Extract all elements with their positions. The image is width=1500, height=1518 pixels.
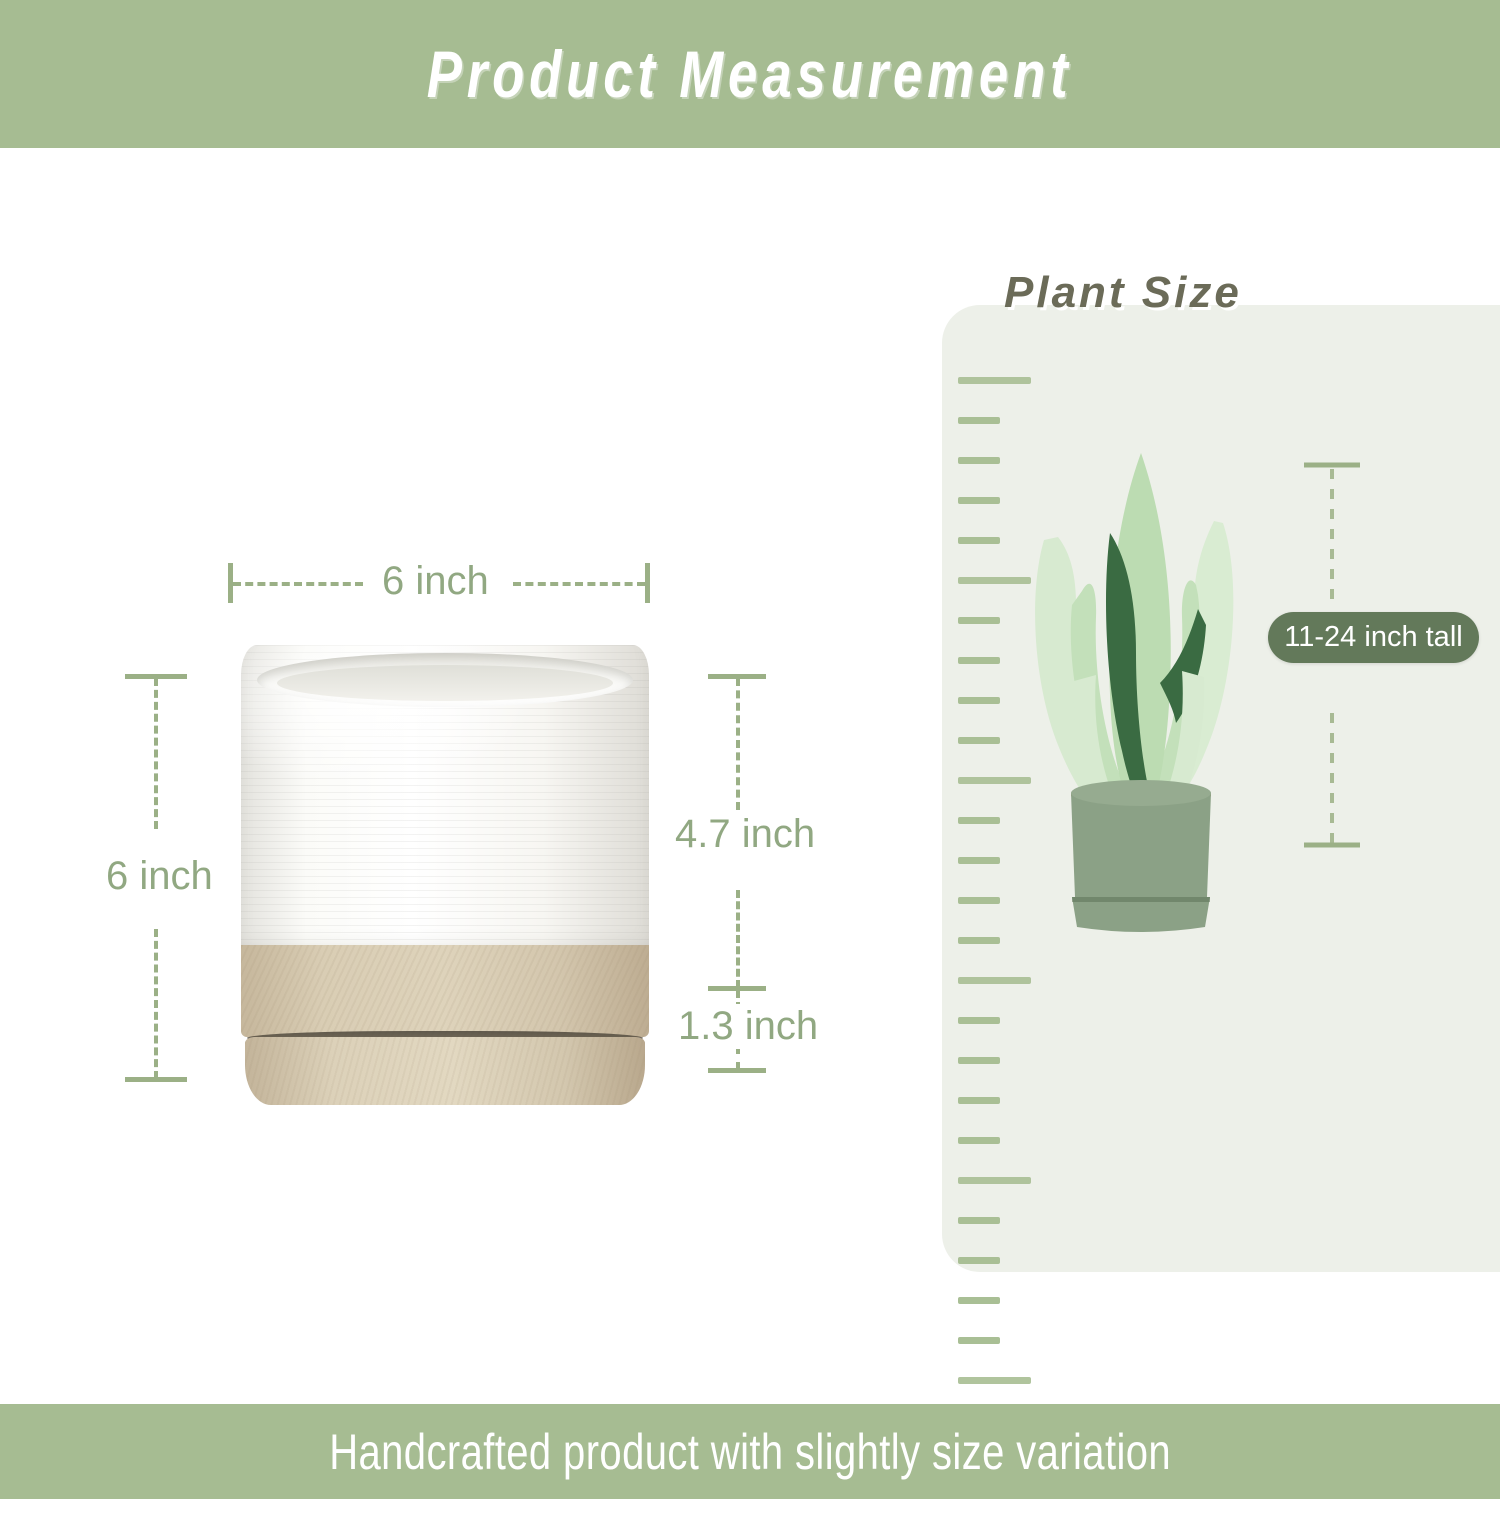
height-dim-dash-top [154,678,158,829]
plant-pot-rim [1071,780,1211,806]
width-dim-dash-left [233,582,363,586]
footer-text: Handcrafted product with slightly size v… [329,1423,1171,1481]
plant-size-panel: Planter height varies by plant variety,r… [942,305,1500,1272]
footer-band: Handcrafted product with slightly size v… [0,1404,1500,1499]
saucer-dim-label: 1.3 inch [668,1004,828,1049]
plant-pot-saucer [1072,897,1210,932]
plant-size-title: Plant Size [1004,268,1242,318]
width-dim-cap-right [645,563,650,603]
planter-saucer [245,1037,645,1105]
planter-rim-inner [277,665,613,701]
width-dim-dash-right [513,582,645,586]
pot-height-dim-label: 4.7 inch [665,812,825,857]
saucer-dim-dash-bottom [736,1046,740,1070]
height-dim-dash-bottom [154,929,158,1079]
header-band: Product Measurement [0,0,1500,148]
planter-unglazed-base [241,945,649,1037]
plant-pot-saucer-gap [1072,897,1210,902]
height-dim-label: 6 inch [96,854,223,899]
pot-height-dim-dash-bottom [736,890,740,988]
snake-plant-illustration [1010,445,1272,965]
page-title: Product Measurement [427,36,1073,112]
infographic-canvas: Product Measurement 6 inch 6 inch 4.7 in… [0,0,1500,1499]
width-dim-label: 6 inch [372,559,499,604]
pot-height-dim-dash-top [736,678,740,810]
product-photo [233,645,657,1105]
plant-pot-body [1071,793,1211,897]
plant-height-badge: 11-24 inch tall [1268,612,1479,663]
